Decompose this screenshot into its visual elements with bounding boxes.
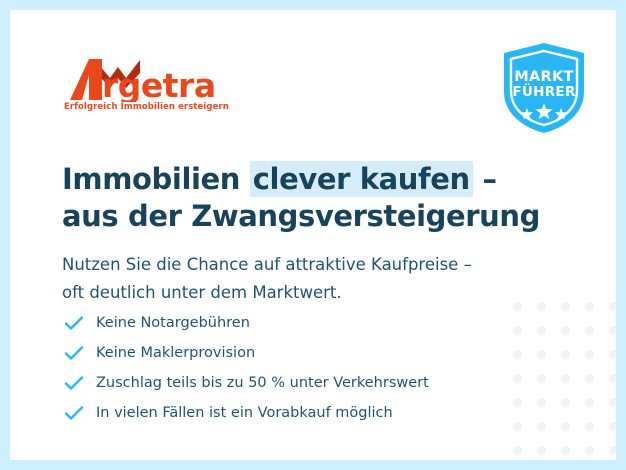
badge-line2-text: FÜHRER	[512, 82, 576, 100]
check-icon	[64, 403, 90, 423]
subheading: Nutzen Sie die Chance auf attraktive Kau…	[62, 251, 562, 307]
decorative-dot	[561, 398, 570, 407]
decorative-dot	[585, 302, 594, 311]
decorative-dot	[609, 422, 616, 431]
poster-frame: rgetra Erfolgreich Immobilien ersteigern…	[0, 0, 626, 470]
headline-highlight: clever kaufen	[250, 161, 473, 197]
checklist-item-label: In vielen Fällen ist ein Vorabkauf mögli…	[90, 405, 393, 421]
headline-text-before: Immobilien	[62, 162, 250, 196]
decorative-dot	[585, 374, 594, 383]
market-leader-badge: MARKT FÜHRER	[498, 40, 590, 136]
decorative-dot	[561, 446, 570, 455]
check-icon	[64, 313, 90, 333]
decorative-dot	[561, 302, 570, 311]
decorative-dot	[585, 350, 594, 359]
logo-tagline: Erfolgreich Immobilien ersteigern	[64, 102, 229, 112]
decorative-dot	[561, 422, 570, 431]
decorative-dot	[585, 422, 594, 431]
decorative-dot	[609, 350, 616, 359]
decorative-dot	[609, 446, 616, 455]
decorative-dot	[609, 398, 616, 407]
headline-line-2: aus der Zwangsversteigerung	[62, 198, 562, 235]
benefits-checklist: Keine NotargebührenKeine Maklerprovision…	[64, 308, 534, 428]
subheading-line-1: Nutzen Sie die Chance auf attraktive Kau…	[62, 251, 562, 279]
poster-card: rgetra Erfolgreich Immobilien ersteigern…	[10, 10, 616, 460]
checklist-item: Zuschlag teils bis zu 50 % unter Verkehr…	[64, 368, 534, 398]
headline-line-1: Immobilien clever kaufen –	[62, 161, 562, 198]
decorative-dot	[585, 398, 594, 407]
decorative-dot	[561, 326, 570, 335]
argetra-logo: rgetra Erfolgreich Immobilien ersteigern	[62, 54, 222, 116]
decorative-dot	[609, 302, 616, 311]
decorative-dot	[609, 326, 616, 335]
argetra-logo-mark: rgetra	[62, 54, 222, 102]
decorative-dot	[537, 398, 546, 407]
check-icon	[64, 373, 90, 393]
headline-text-after: –	[473, 162, 497, 196]
decorative-dot	[537, 422, 546, 431]
checklist-item-label: Keine Maklerprovision	[90, 345, 255, 361]
decorative-dot	[609, 374, 616, 383]
decorative-dot	[513, 446, 522, 455]
decorative-dot	[537, 326, 546, 335]
checklist-item: Keine Notargebühren	[64, 308, 534, 338]
decorative-dot	[585, 446, 594, 455]
decorative-dot	[561, 374, 570, 383]
decorative-dot	[585, 326, 594, 335]
checklist-item-label: Zuschlag teils bis zu 50 % unter Verkehr…	[90, 375, 429, 391]
checklist-item: In vielen Fällen ist ein Vorabkauf mögli…	[64, 398, 534, 428]
subheading-line-2: oft deutlich unter dem Marktwert.	[62, 279, 562, 307]
checklist-item-label: Keine Notargebühren	[90, 315, 250, 331]
badge-line1-text: MARKT	[514, 69, 573, 85]
check-icon	[64, 343, 90, 363]
decorative-dot	[537, 350, 546, 359]
svg-text:rgetra: rgetra	[102, 66, 216, 102]
decorative-dot	[537, 374, 546, 383]
checklist-item: Keine Maklerprovision	[64, 338, 534, 368]
page-title: Immobilien clever kaufen – aus der Zwang…	[62, 161, 562, 235]
decorative-dot	[561, 350, 570, 359]
decorative-dot	[537, 446, 546, 455]
